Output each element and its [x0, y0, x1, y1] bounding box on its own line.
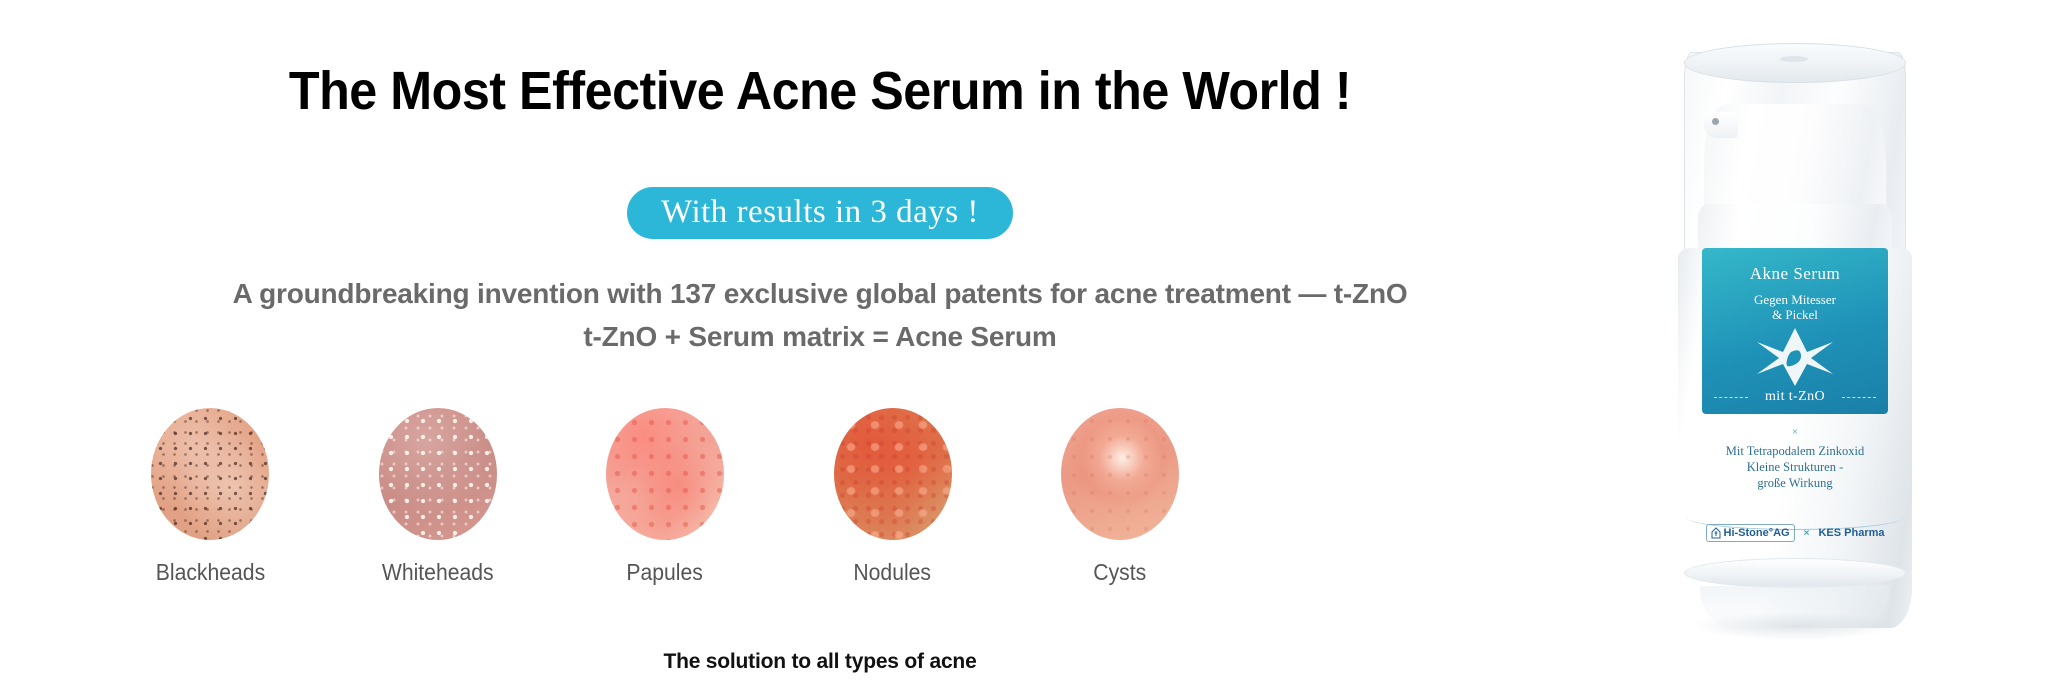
claim-line-1: Mit Tetrapodalem Zinkoxid: [1694, 443, 1896, 459]
cysts-skin-image: [1061, 408, 1179, 540]
bottle-teal-label: Akne Serum Gegen Mitesser & Pickel mit t…: [1702, 248, 1888, 414]
papules-skin-image: [606, 408, 724, 540]
page-title: The Most Effective Acne Serum in the Wor…: [57, 60, 1582, 122]
claim-line-2: Kleine Strukturen -: [1694, 459, 1896, 475]
acne-type-item: Blackheads: [130, 408, 290, 586]
acne-type-label: Papules: [627, 559, 703, 586]
four-point-star-icon: [1755, 326, 1835, 388]
acne-type-label: Blackheads: [155, 559, 264, 586]
blackheads-skin-image: [151, 408, 269, 540]
whiteheads-skin-image: [379, 408, 497, 540]
claim-line-3: große Wirkung: [1694, 475, 1896, 491]
content-column: The Most Effective Acne Serum in the Wor…: [0, 0, 1640, 700]
house-icon: [1711, 527, 1721, 539]
subheadline: A groundbreaking invention with 137 excl…: [0, 272, 1640, 358]
product-subtitle-line-1: Gegen Mitesser: [1702, 292, 1888, 307]
subheadline-line-2: t-ZnO + Serum matrix = Acne Serum: [0, 315, 1640, 358]
kes-pharma-label: KES Pharma: [1818, 527, 1884, 539]
bottle-base-ring: [1684, 558, 1906, 588]
badge-row: With results in 3 days !: [0, 187, 1640, 239]
product-name: Akne Serum: [1702, 264, 1888, 284]
bottle-shadow: [1690, 612, 1900, 640]
acne-type-label: Whiteheads: [382, 559, 494, 586]
product-subtitle-line-2: & Pickel: [1702, 307, 1888, 322]
promo-banner: The Most Effective Acne Serum in the Wor…: [0, 0, 2048, 700]
acne-type-item: Whiteheads: [358, 408, 518, 586]
brand-separator-icon: ×: [1804, 528, 1810, 539]
results-badge: With results in 3 days !: [627, 187, 1013, 239]
hi-stone-label: Hi-Stone°AG: [1724, 527, 1790, 539]
product-bottle-image: Akne Serum Gegen Mitesser & Pickel mit t…: [1660, 52, 1930, 652]
acne-type-label: Nodules: [854, 559, 932, 586]
acne-type-item: Papules: [585, 408, 745, 586]
acne-type-row: Blackheads Whiteheads Papules Nodules Cy…: [130, 408, 1200, 586]
brand-lockup: Hi-Stone°AG × KES Pharma: [1694, 524, 1896, 542]
nodules-skin-image: [834, 408, 952, 540]
bottle-cap-dimple: [1780, 56, 1808, 62]
acne-type-item: Nodules: [813, 408, 973, 586]
pump-nozzle: [1704, 112, 1738, 138]
hi-stone-logo: Hi-Stone°AG: [1706, 524, 1795, 542]
bottle-claim-text: × Mit Tetrapodalem Zinkoxid Kleine Struk…: [1694, 424, 1896, 491]
pump-nozzle-hole: [1712, 118, 1719, 125]
footer-caption: The solution to all types of acne: [0, 650, 1640, 674]
acne-type-item: Cysts: [1040, 408, 1200, 586]
bottle-cap-top: [1684, 43, 1906, 83]
acne-type-label: Cysts: [1094, 559, 1147, 586]
claim-mark-icon: ×: [1694, 424, 1896, 440]
product-ingredient: mit t-ZnO: [1702, 389, 1888, 405]
subheadline-line-1: A groundbreaking invention with 137 excl…: [0, 272, 1640, 315]
